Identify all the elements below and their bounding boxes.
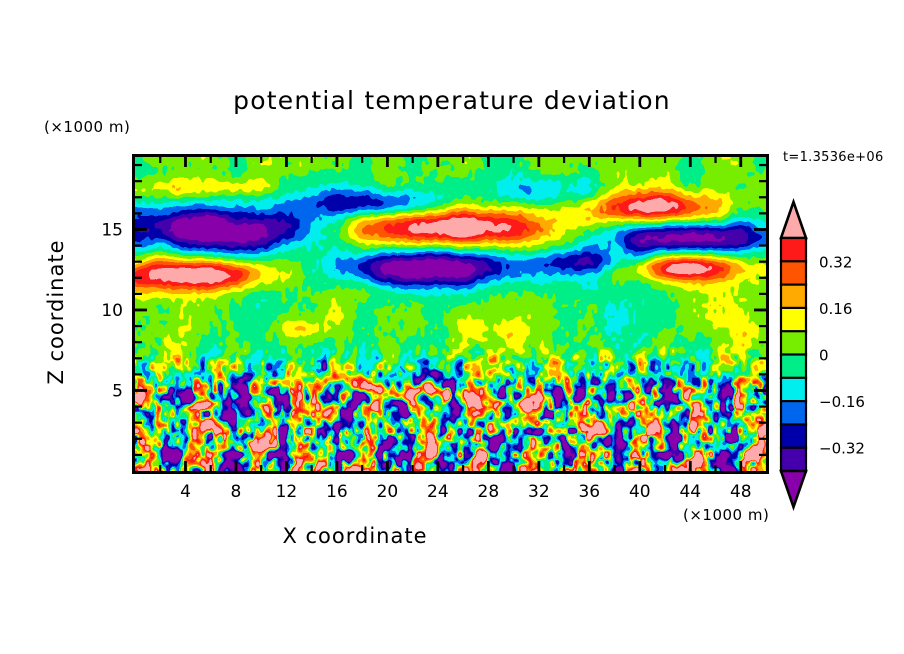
colorbar-tick-label: −0.32 [819, 440, 865, 458]
colorbar-tick-label: 0 [819, 347, 829, 365]
colorbar-tick-label: 0.16 [819, 300, 852, 318]
colorbar-band [781, 378, 806, 402]
colorbar-band [781, 261, 806, 285]
colorbar-band [781, 238, 806, 262]
colorbar-band [781, 448, 806, 472]
colorbar-band [781, 355, 806, 379]
colorbar-band [781, 424, 806, 448]
colorbar-tick-label: 0.32 [819, 253, 852, 271]
colorbar-band [781, 285, 806, 309]
colorbar-arrow-high [781, 202, 806, 238]
colorbar-band [781, 401, 806, 425]
colorbar-band [781, 308, 806, 332]
colorbar-band [781, 331, 806, 355]
colorbar-arrow-low [781, 471, 806, 507]
colorbar: 0.320.160−0.16−0.32 [0, 0, 904, 654]
colorbar-tick-label: −0.16 [819, 393, 865, 411]
